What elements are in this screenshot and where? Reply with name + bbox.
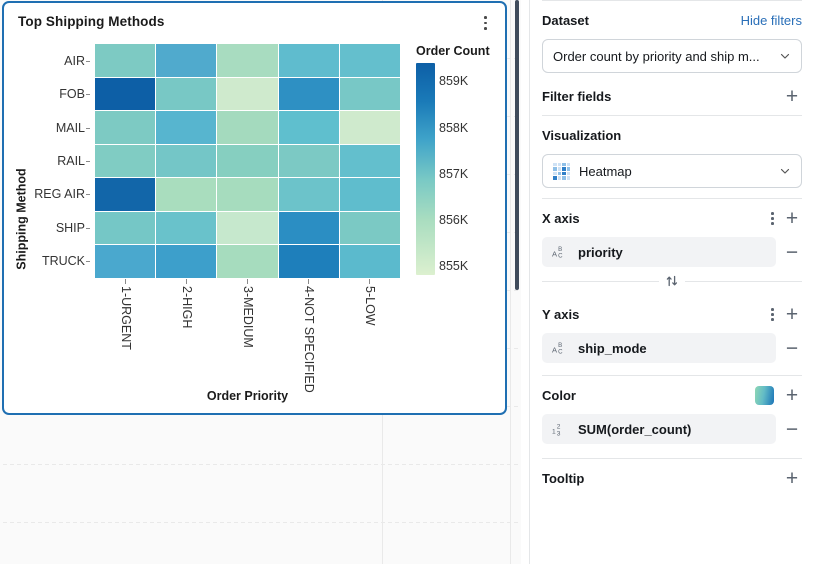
x-axis-tick-mark [186, 279, 187, 284]
x-axis-tick-label-text: 1-URGENT [119, 286, 133, 350]
y-axis-tick-mail: MAIL [32, 111, 90, 144]
heatmap-cell[interactable] [156, 212, 216, 245]
heatmap-cell[interactable] [95, 111, 155, 144]
canvas-scrollbar[interactable] [508, 0, 521, 564]
canvas-scrollbar-thumb[interactable] [515, 0, 519, 290]
x-axis-kebab-menu-icon[interactable] [764, 208, 780, 228]
kebab-menu-icon[interactable] [476, 13, 494, 33]
y-axis-field-name: ship_mode [578, 341, 647, 356]
visualization-select-value: Heatmap [579, 164, 779, 179]
chart-card[interactable]: Top Shipping Methods Shipping Method AIR… [2, 1, 507, 415]
color-section-header: Color + [542, 376, 802, 414]
heatmap-cell[interactable] [279, 78, 339, 111]
x-axis-tick-marks [95, 279, 400, 285]
legend-tick-label: 857K [439, 167, 468, 181]
heatmap-cell[interactable] [279, 44, 339, 77]
x-axis-field-pill[interactable]: A B C priority [542, 237, 776, 267]
heatmap-plot: Shipping Method AIRFOBMAILRAILREG AIRSHI… [4, 41, 505, 415]
visualization-label: Visualization [542, 128, 621, 143]
y-axis-tick-air: AIR [32, 44, 90, 77]
svg-text:3: 3 [557, 431, 561, 437]
swap-axes-icon[interactable] [659, 270, 685, 292]
heatmap-cell[interactable] [279, 245, 339, 278]
visualization-section-header: Visualization [542, 116, 802, 154]
x-axis-field-name: priority [578, 245, 623, 260]
add-x-axis-field-button[interactable]: + [782, 208, 802, 228]
heatmap-cell[interactable] [340, 111, 400, 144]
abc-text-field-icon: A B C [552, 340, 569, 356]
color-field-name: SUM(order_count) [578, 422, 691, 437]
add-filter-field-button[interactable]: + [782, 86, 802, 106]
filter-fields-section-header: Filter fields + [542, 77, 802, 115]
filter-fields-label: Filter fields [542, 89, 611, 104]
color-gradient-swatch[interactable] [755, 386, 774, 405]
chevron-down-icon [779, 50, 791, 62]
heatmap-cell[interactable] [95, 145, 155, 178]
color-label: Color [542, 388, 576, 403]
heatmap-cell[interactable] [156, 178, 216, 211]
abc-text-field-icon: A B C [552, 244, 569, 260]
add-y-axis-field-button[interactable]: + [782, 304, 802, 324]
chart-title: Top Shipping Methods [18, 14, 164, 29]
y-axis-field-row: A B C ship_mode − [542, 333, 802, 363]
y-axis-tick-fob: FOB [32, 77, 90, 110]
legend-tick-label: 856K [439, 213, 468, 227]
heatmap-cell[interactable] [279, 212, 339, 245]
x-axis-tick-1-urgent: 1-URGENT [95, 286, 156, 396]
svg-text:A: A [552, 346, 558, 355]
y-axis-tick-truck: TRUCK [32, 245, 90, 278]
add-color-field-button[interactable]: + [782, 385, 802, 405]
heatmap-cell[interactable] [279, 145, 339, 178]
heatmap-grid-icon [553, 163, 570, 180]
heatmap-cell[interactable] [340, 178, 400, 211]
add-tooltip-field-button[interactable]: + [782, 468, 802, 488]
visualization-settings-panel: Dataset Hide filters Order count by prio… [529, 0, 814, 564]
heatmap-cell[interactable] [217, 111, 277, 144]
color-legend: Order Count 859K858K857K856K855K [408, 43, 504, 283]
heatmap-cell[interactable] [156, 145, 216, 178]
x-axis-tick-label-text: 3-MEDIUM [241, 286, 255, 348]
dataset-label: Dataset [542, 13, 589, 28]
dataset-section-header: Dataset Hide filters [542, 1, 802, 39]
y-axis-tick-labels: AIRFOBMAILRAILREG AIRSHIPTRUCK [32, 44, 90, 278]
chart-card-header: Top Shipping Methods [4, 3, 505, 41]
color-field-pill[interactable]: 1 2 3 SUM(order_count) [542, 414, 776, 444]
heatmap-cell[interactable] [217, 245, 277, 278]
svg-text:A: A [552, 250, 558, 259]
heatmap-cell[interactable] [156, 245, 216, 278]
heatmap-cell[interactable] [95, 212, 155, 245]
heatmap-cell[interactable] [217, 145, 277, 178]
heatmap-cell[interactable] [340, 245, 400, 278]
dashboard-canvas: Top Shipping Methods Shipping Method AIR… [0, 0, 521, 564]
y-axis-field-pill[interactable]: A B C ship_mode [542, 333, 776, 363]
heatmap-cell[interactable] [279, 178, 339, 211]
svg-text:2: 2 [557, 424, 561, 431]
y-axis-section-header: Y axis + [542, 295, 802, 333]
numeric-field-icon: 1 2 3 [552, 421, 569, 437]
chevron-down-icon [779, 165, 791, 177]
tooltip-label: Tooltip [542, 471, 584, 486]
divider [685, 281, 802, 282]
remove-color-field-button[interactable]: − [782, 419, 802, 439]
x-axis-tick-mark [125, 279, 126, 284]
heatmap-cell[interactable] [95, 178, 155, 211]
heatmap-cell[interactable] [156, 78, 216, 111]
remove-y-axis-field-button[interactable]: − [782, 338, 802, 358]
legend-tick-label: 858K [439, 121, 468, 135]
x-axis-section-header: X axis + [542, 199, 802, 237]
legend-tick-label: 859K [439, 74, 468, 88]
x-axis-tick-label-text: 5-LOW [363, 286, 377, 326]
heatmap-cell[interactable] [156, 111, 216, 144]
x-axis-tick-label-text: 4-NOT SPECIFIED [302, 286, 316, 393]
heatmap-cell[interactable] [217, 44, 277, 77]
heatmap-cell[interactable] [340, 78, 400, 111]
y-axis-label: Y axis [542, 307, 579, 322]
heatmap-cell[interactable] [217, 178, 277, 211]
x-axis-tick-2-high: 2-HIGH [156, 286, 217, 396]
remove-x-axis-field-button[interactable]: − [782, 242, 802, 262]
heatmap-cell[interactable] [217, 78, 277, 111]
color-field-row: 1 2 3 SUM(order_count) − [542, 414, 802, 444]
visualization-select[interactable]: Heatmap [542, 154, 802, 188]
heatmap-cell[interactable] [217, 212, 277, 245]
x-axis-tick-labels: 1-URGENT2-HIGH3-MEDIUM4-NOT SPECIFIED5-L… [95, 286, 400, 396]
x-axis-tick-mark [247, 279, 248, 284]
heatmap-cell[interactable] [156, 44, 216, 77]
dataset-select-value: Order count by priority and ship m... [553, 49, 779, 64]
x-axis-field-row: A B C priority − [542, 237, 802, 267]
tooltip-section-header: Tooltip + [542, 459, 802, 497]
x-axis-tick-5-low: 5-LOW [339, 286, 400, 396]
heatmap-cell[interactable] [340, 145, 400, 178]
heatmap-cell[interactable] [95, 78, 155, 111]
heatmap-cell[interactable] [340, 212, 400, 245]
svg-text:C: C [558, 349, 563, 356]
y-axis-kebab-menu-icon[interactable] [764, 304, 780, 324]
legend-tick-label: 855K [439, 259, 468, 273]
divider [542, 281, 659, 282]
svg-text:C: C [558, 253, 563, 260]
legend-gradient-bar [416, 63, 435, 275]
y-axis-tick-ship: SHIP [32, 211, 90, 244]
x-axis-tick-label-text: 2-HIGH [180, 286, 194, 328]
swap-axes-row [542, 267, 802, 295]
y-axis-tick-rail: RAIL [32, 144, 90, 177]
x-axis-tick-3-medium: 3-MEDIUM [217, 286, 278, 396]
x-axis-title: Order Priority [95, 389, 400, 403]
heatmap-cell[interactable] [95, 44, 155, 77]
hide-filters-link[interactable]: Hide filters [741, 13, 802, 28]
heatmap-cell[interactable] [279, 111, 339, 144]
x-axis-tick-mark [308, 279, 309, 284]
y-axis-title-text: Shipping Method [15, 168, 29, 269]
x-axis-label: X axis [542, 211, 580, 226]
heatmap-cell[interactable] [95, 245, 155, 278]
x-axis-tick-4-not-specified: 4-NOT SPECIFIED [278, 286, 339, 396]
svg-text:1: 1 [552, 429, 556, 436]
x-axis-tick-mark [369, 279, 370, 284]
y-axis-tick-reg-air: REG AIR [32, 178, 90, 211]
y-axis-title: Shipping Method [12, 129, 32, 309]
legend-title: Order Count [416, 44, 490, 58]
dataset-select[interactable]: Order count by priority and ship m... [542, 39, 802, 73]
heatmap-cell[interactable] [340, 44, 400, 77]
heatmap-cells[interactable] [95, 44, 400, 278]
